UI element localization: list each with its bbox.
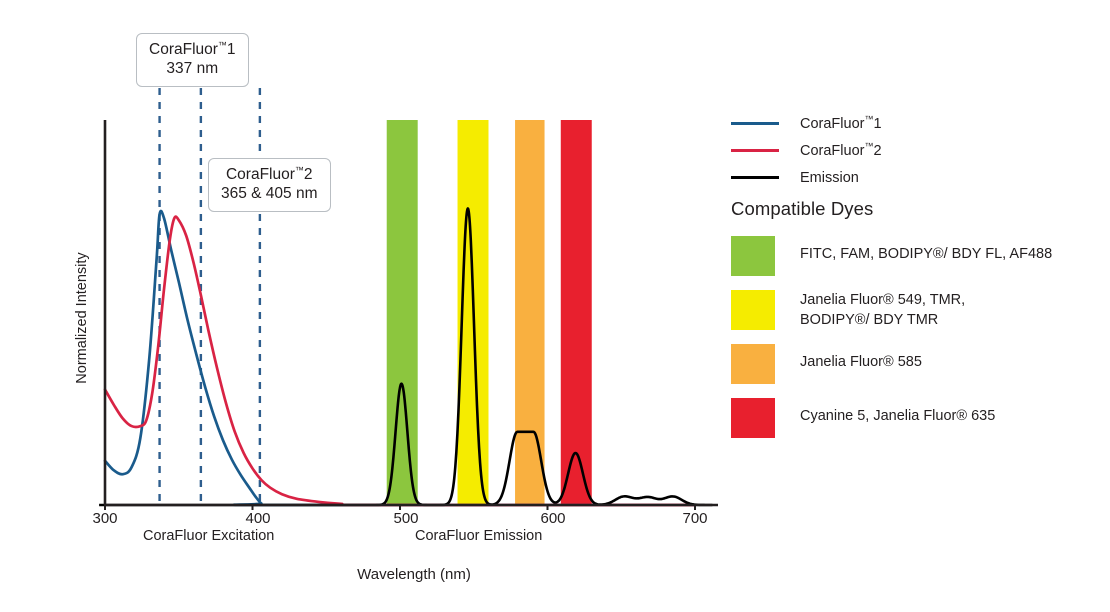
dye-orange: Janelia Fluor® 585 — [731, 344, 1103, 384]
excitation-range-label: CoraFluor Excitation — [143, 528, 274, 544]
legend-label: CoraFluor™1 — [800, 116, 882, 132]
legend-label-suffix: 2 — [873, 143, 881, 159]
corafluor-1-callout: CoraFluor™1 337 nm — [136, 33, 249, 87]
dye-color-swatch — [731, 236, 775, 276]
chart-legend: CoraFluor™1 CoraFluor™2 Emission — [731, 110, 1091, 191]
dye-label-line: FITC, FAM, BODIPY®/ BDY FL, AF488 — [800, 246, 1052, 262]
legend-corafluor-1: CoraFluor™1 — [731, 110, 1091, 137]
dye-label-line: Janelia Fluor® 549, TMR, — [800, 292, 965, 308]
callout-2-suffix: 2 — [304, 166, 313, 183]
dye-label: Cyanine 5, Janelia Fluor® 635 — [800, 398, 995, 427]
legend-line-swatch — [731, 122, 779, 125]
dye-label: FITC, FAM, BODIPY®/ BDY FL, AF488 — [800, 236, 1052, 265]
x-axis-label: Wavelength (nm) — [0, 566, 828, 583]
x-tick-label-600: 600 — [523, 510, 583, 527]
callout-2-line1-text: CoraFluor — [226, 166, 295, 183]
dye-label: Janelia Fluor® 549, TMR, BODIPY®/ BDY TM… — [800, 290, 965, 330]
dye-label-line: Janelia Fluor® 585 — [800, 354, 922, 370]
legend-line-swatch — [731, 176, 779, 179]
legend-label: CoraFluor™2 — [800, 143, 882, 159]
legend-emission: Emission — [731, 164, 1091, 191]
callout-1-suffix: 1 — [227, 41, 236, 58]
dye-color-swatch — [731, 398, 775, 438]
trademark-symbol: ™ — [218, 40, 227, 50]
excitation-marker-lines-group — [160, 88, 260, 505]
x-tick-label-700: 700 — [665, 510, 725, 527]
dye-yellow: Janelia Fluor® 549, TMR, BODIPY®/ BDY TM… — [731, 290, 1103, 330]
legend-label-text: CoraFluor — [800, 143, 864, 159]
compatible-dyes-panel: Compatible Dyes FITC, FAM, BODIPY®/ BDY … — [731, 198, 1103, 452]
x-tick-label-400: 400 — [228, 510, 288, 527]
legend-label: Emission — [800, 170, 859, 186]
trademark-symbol: ™ — [295, 165, 304, 175]
dye-color-swatch — [731, 290, 775, 330]
dye-bands-group — [387, 120, 592, 505]
legend-label-text: CoraFluor — [800, 116, 864, 132]
compatible-dyes-title: Compatible Dyes — [731, 198, 1103, 220]
corafluor-2-callout: CoraFluor™2 365 & 405 nm — [208, 158, 331, 212]
dye-label-line: BODIPY®/ BDY TMR — [800, 312, 938, 328]
legend-line-swatch — [731, 149, 779, 152]
green-band — [387, 120, 418, 505]
dye-green: FITC, FAM, BODIPY®/ BDY FL, AF488 — [731, 236, 1103, 276]
legend-label-text: Emission — [800, 170, 859, 186]
x-tick-label-500: 500 — [376, 510, 436, 527]
callout-1-line2: 337 nm — [149, 59, 236, 78]
callout-2-line2: 365 & 405 nm — [221, 184, 318, 203]
y-axis-label: Normalized Intensity — [74, 218, 90, 418]
dye-red: Cyanine 5, Janelia Fluor® 635 — [731, 398, 1103, 438]
x-tick-label-300: 300 — [75, 510, 135, 527]
callout-1-line1-text: CoraFluor — [149, 41, 218, 58]
orange-band — [515, 120, 545, 505]
dye-color-swatch — [731, 344, 775, 384]
legend-label-suffix: 1 — [873, 116, 881, 132]
legend-corafluor-2: CoraFluor™2 — [731, 137, 1091, 164]
red-band — [561, 120, 592, 505]
emission-range-label: CoraFluor Emission — [415, 528, 542, 544]
spectra-figure: CoraFluor™1 337 nm CoraFluor™2 365 & 405… — [0, 0, 1110, 612]
dye-label-line: Cyanine 5, Janelia Fluor® 635 — [800, 408, 995, 424]
dye-label: Janelia Fluor® 585 — [800, 344, 922, 373]
